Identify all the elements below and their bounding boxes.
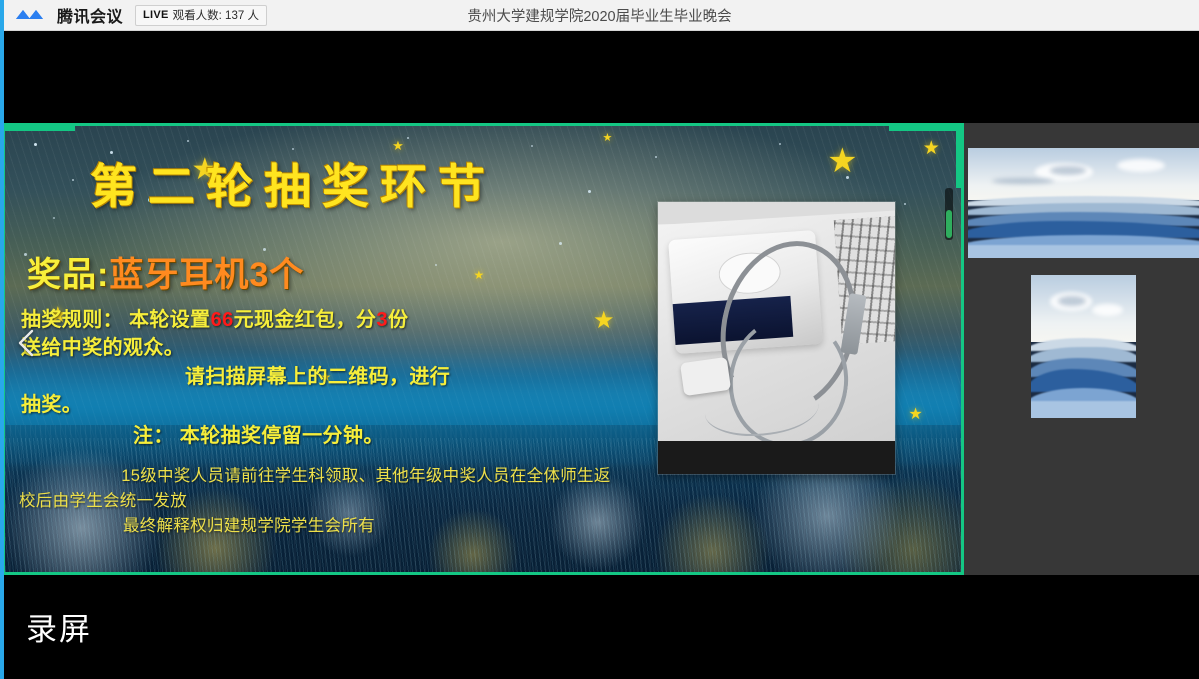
share-corner-top-right-v (956, 126, 961, 188)
title-bar-left: 腾讯会议 LIVE 观看人数: 137 人 (0, 3, 267, 27)
meeting-stage: ★ ★ ★ ★ ★ ★ ★ ★ ★ ★ (0, 31, 1199, 679)
rules-line5: 注： 本轮抽奖停留一分钟。 (21, 422, 621, 450)
chevron-left-icon (13, 326, 39, 360)
meeting-window: 腾讯会议 LIVE 观看人数: 137 人 贵州大学建规学院2020届毕业生毕业… (0, 0, 1199, 679)
footer-line-1: 15级中奖人员请前往学生科领取、其他年级中奖人员在全体师生返 (19, 464, 849, 489)
slide-prize-line: 奖品:蓝牙耳机3个 (27, 247, 304, 296)
meeting-title: 贵州大学建规学院2020届毕业生毕业晚会 (467, 5, 731, 26)
slide-rules-text: 抽奖规则： 本轮设置66元现金红包，分3份 送给中奖的观众。 请扫描屏幕上的二维… (21, 306, 621, 450)
rules-line1-part-a: 抽奖规则： 本轮设置 (21, 309, 211, 331)
bluetooth-headphone-photo (658, 202, 895, 474)
footer-line-3: 最终解释权归建规学院学生会所有 (19, 514, 849, 539)
window-left-accent-strip (0, 0, 4, 679)
share-corner-top-right-h (889, 126, 961, 131)
bottom-bar: 录屏 (0, 575, 1199, 679)
app-brand-name: 腾讯会议 (57, 3, 123, 27)
live-viewer-badge: LIVE 观看人数: 137 人 (135, 5, 267, 26)
slide-title: 第二轮抽奖环节 (90, 148, 690, 217)
rules-count: 3 (376, 309, 388, 331)
share-corner-top-left (5, 126, 75, 131)
rules-line1-part-b: 元现金红包，分 (234, 309, 377, 331)
rules-line2: 送给中奖的观众。 (21, 334, 621, 362)
live-viewer-count-label: 观看人数: 137 人 (173, 7, 259, 23)
slide-scrollbar-track[interactable] (945, 188, 953, 240)
rules-line1-part-c: 份 (388, 309, 408, 331)
rules-line4: 抽奖。 (21, 391, 621, 419)
slide-scrollbar-thumb[interactable] (946, 210, 952, 238)
live-indicator-label: LIVE (143, 9, 169, 21)
recording-label: 录屏 (26, 604, 92, 649)
prize-value: 蓝牙耳机3个 (109, 256, 304, 294)
presentation-slide: ★ ★ ★ ★ ★ ★ ★ ★ ★ ★ (5, 126, 961, 572)
rules-amount: 66 (211, 309, 234, 331)
landscape-image-2 (1031, 275, 1136, 418)
previous-slide-button[interactable] (13, 326, 39, 360)
participant-thumbnail-rail (963, 123, 1199, 575)
title-bar: 腾讯会议 LIVE 观看人数: 137 人 贵州大学建规学院2020届毕业生毕业… (0, 0, 1199, 31)
rules-line3: 请扫描屏幕上的二维码，进行 (21, 363, 621, 391)
prize-label: 奖品: (27, 256, 109, 294)
slide-footer-note: 15级中奖人员请前往学生科领取、其他年级中奖人员在全体师生返 校后由学生会统一发… (19, 464, 849, 539)
participant-video-1[interactable] (968, 148, 1199, 258)
tencent-meeting-logo-icon (14, 6, 48, 24)
shared-screen-frame: ★ ★ ★ ★ ★ ★ ★ ★ ★ ★ (2, 123, 964, 575)
participant-video-2[interactable] (1031, 275, 1136, 418)
footer-line-2: 校后由学生会统一发放 (19, 489, 849, 514)
landscape-image-1 (968, 148, 1199, 258)
